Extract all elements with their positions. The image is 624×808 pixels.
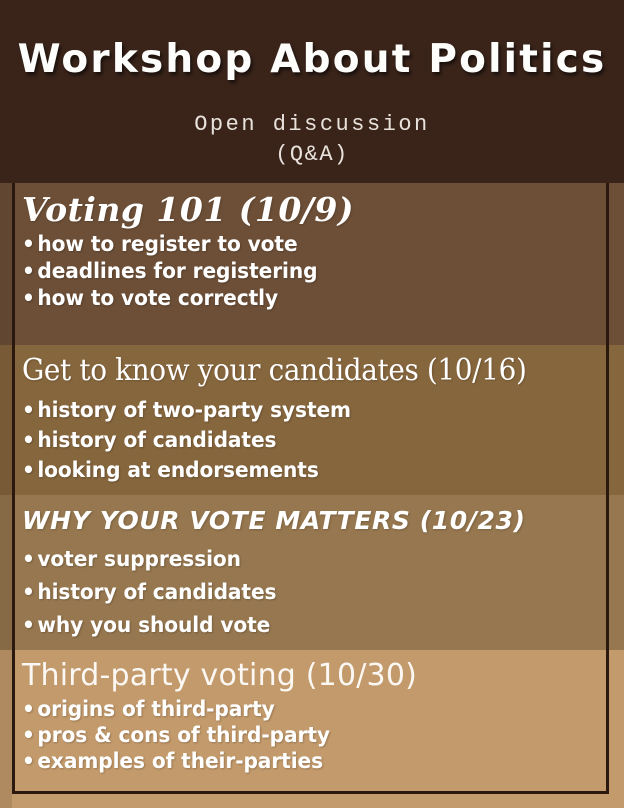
section-why-your-vote-matters: WHY YOUR VOTE MATTERS (10/23) •voter sup… (0, 495, 624, 650)
left-edge-strip (0, 183, 12, 808)
bullet-item: •history of candidates (22, 425, 577, 455)
bullet-text: how to vote correctly (37, 286, 278, 310)
bullet-glyph: • (22, 395, 37, 425)
poster-title: Workshop About Politics (0, 38, 624, 82)
section-bullet-list: •history of two-party system •history of… (22, 395, 600, 485)
bullet-item: •history of candidates (22, 576, 577, 609)
bullet-text: examples of their-parties (37, 749, 323, 773)
poster-header: Workshop About Politics Open discussion … (0, 0, 624, 183)
bullet-item: •origins of third-party (22, 696, 577, 722)
bullet-text: how to register to vote (37, 232, 297, 256)
bullet-glyph: • (22, 231, 37, 258)
section-bullet-list: •how to register to vote •deadlines for … (22, 231, 600, 312)
bullet-item: •looking at endorsements (22, 455, 577, 485)
section-bullet-list: •voter suppression •history of candidate… (22, 543, 600, 642)
bullet-item: •pros & cons of third-party (22, 722, 577, 748)
frame-border-right (606, 183, 609, 794)
frame-border-bottom (12, 791, 609, 794)
section-heading: WHY YOUR VOTE MATTERS (10/23) (22, 495, 600, 537)
bullet-item: •voter suppression (22, 543, 577, 576)
bullet-glyph: • (22, 722, 37, 748)
subtitle-line-2: (Q&A) (0, 140, 624, 170)
frame-border-left (12, 183, 15, 794)
section-heading: Third-party voting (10/30) (22, 650, 600, 694)
bullet-text: deadlines for registering (37, 259, 317, 283)
bullet-item: •examples of their-parties (22, 748, 577, 774)
bullet-text: why you should vote (37, 613, 270, 637)
bullet-glyph: • (22, 609, 37, 642)
section-heading: Get to know your candidates (10/16) (22, 345, 560, 389)
bullet-text: history of candidates (37, 428, 276, 452)
section-bullet-list: •origins of third-party •pros & cons of … (22, 696, 600, 774)
bullet-text: history of candidates (37, 580, 276, 604)
bullet-text: voter suppression (37, 547, 241, 571)
bullet-item: •how to vote correctly (22, 285, 577, 312)
bullet-text: origins of third-party (37, 697, 274, 721)
bullet-item: •how to register to vote (22, 231, 577, 258)
subtitle-line-1: Open discussion (194, 112, 430, 137)
bullet-glyph: • (22, 543, 37, 576)
bullet-glyph: • (22, 285, 37, 312)
bullet-item: •deadlines for registering (22, 258, 577, 285)
bullet-glyph: • (22, 425, 37, 455)
bullet-glyph: • (22, 455, 37, 485)
bullet-item: •history of two-party system (22, 395, 577, 425)
section-third-party-voting: Third-party voting (10/30) •origins of t… (0, 650, 624, 808)
bullet-glyph: • (22, 576, 37, 609)
bullet-text: pros & cons of third-party (37, 723, 330, 747)
section-heading: Voting 101 (10/9) (22, 183, 600, 229)
bullet-glyph: • (22, 258, 37, 285)
bullet-item: •why you should vote (22, 609, 577, 642)
bullet-glyph: • (22, 696, 37, 722)
bullet-text: history of two-party system (37, 398, 351, 422)
bullet-text: looking at endorsements (37, 458, 318, 482)
section-know-your-candidates: Get to know your candidates (10/16) •his… (0, 345, 624, 495)
section-voting-101: Voting 101 (10/9) •how to register to vo… (0, 183, 624, 345)
poster-subtitle: Open discussion (Q&A) (0, 110, 624, 170)
poster: Workshop About Politics Open discussion … (0, 0, 624, 808)
bullet-glyph: • (22, 748, 37, 774)
